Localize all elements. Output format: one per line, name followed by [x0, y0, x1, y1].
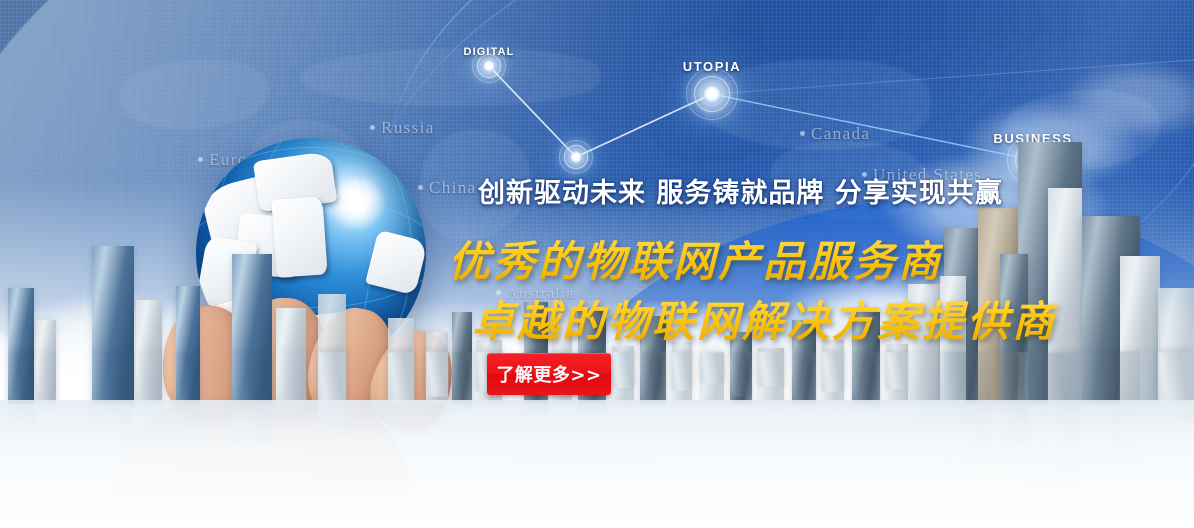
tagline-secondary: 卓越的物联网解决方案提供商	[472, 288, 1057, 349]
node-core	[570, 151, 582, 163]
page-title: 创新驱动未来 服务铸就品牌 分享实现共赢	[478, 171, 1003, 210]
building-reflection	[612, 352, 634, 388]
building-reflection	[700, 352, 724, 383]
building-reflection	[886, 352, 908, 389]
hero-banner: RussiaEuropeChinaCanadaUnited StatesAust…	[0, 0, 1194, 528]
building-reflection	[672, 352, 692, 390]
node-core	[703, 85, 721, 103]
building-reflection	[36, 352, 56, 404]
building-reflection	[792, 352, 816, 404]
building-reflection	[388, 352, 414, 405]
building-reflection	[730, 352, 752, 397]
tagline-primary: 优秀的物联网产品服务商	[448, 228, 943, 289]
building-reflection	[426, 352, 448, 397]
network-node-utopia	[686, 68, 738, 120]
building-reflection	[640, 352, 666, 407]
node-core	[483, 60, 495, 72]
network-node-label-digital: DIGITAL	[464, 46, 515, 58]
learn-more-button[interactable]: 了解更多>>	[487, 353, 611, 395]
building-reflection	[758, 352, 784, 387]
network-node-label-utopia: UTOPIA	[683, 59, 741, 74]
network-node-unlabeled	[559, 140, 593, 174]
building-reflection	[822, 352, 844, 392]
